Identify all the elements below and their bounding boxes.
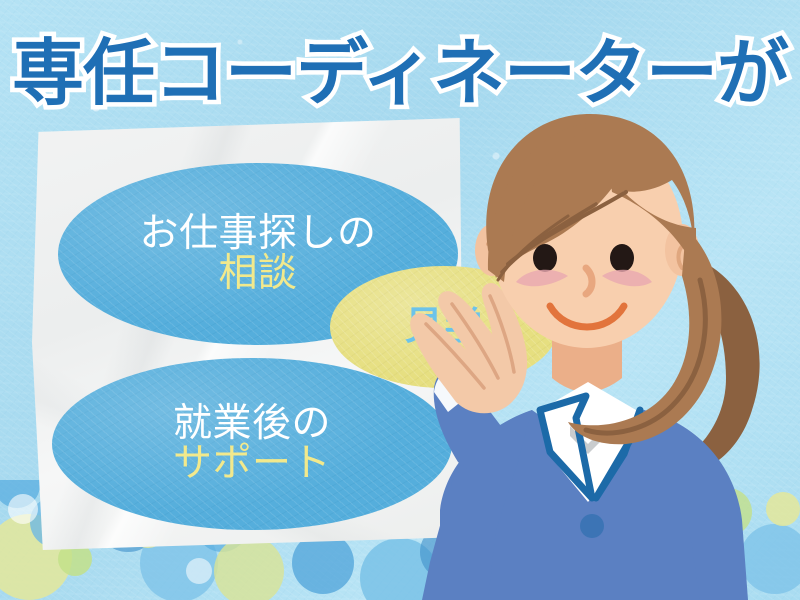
smiling-businesswoman-coordinator xyxy=(400,110,800,600)
ellipse-consultation-line2: 相談 xyxy=(218,254,297,294)
ellipse-support: 就業後の サポート xyxy=(52,358,452,530)
ellipse-support-line2: サポート xyxy=(173,444,331,484)
eye-left xyxy=(533,244,557,272)
banner-image: お仕事探しの 相談 就業後の サポート 見学 xyxy=(0,0,800,600)
ellipse-support-line1: 就業後の xyxy=(173,404,331,444)
page-title: 専任コーディネーターが xyxy=(0,14,800,119)
ellipse-consultation-line1: お仕事探しの xyxy=(139,214,376,254)
eye-right xyxy=(610,244,634,272)
jacket-button xyxy=(580,514,604,538)
